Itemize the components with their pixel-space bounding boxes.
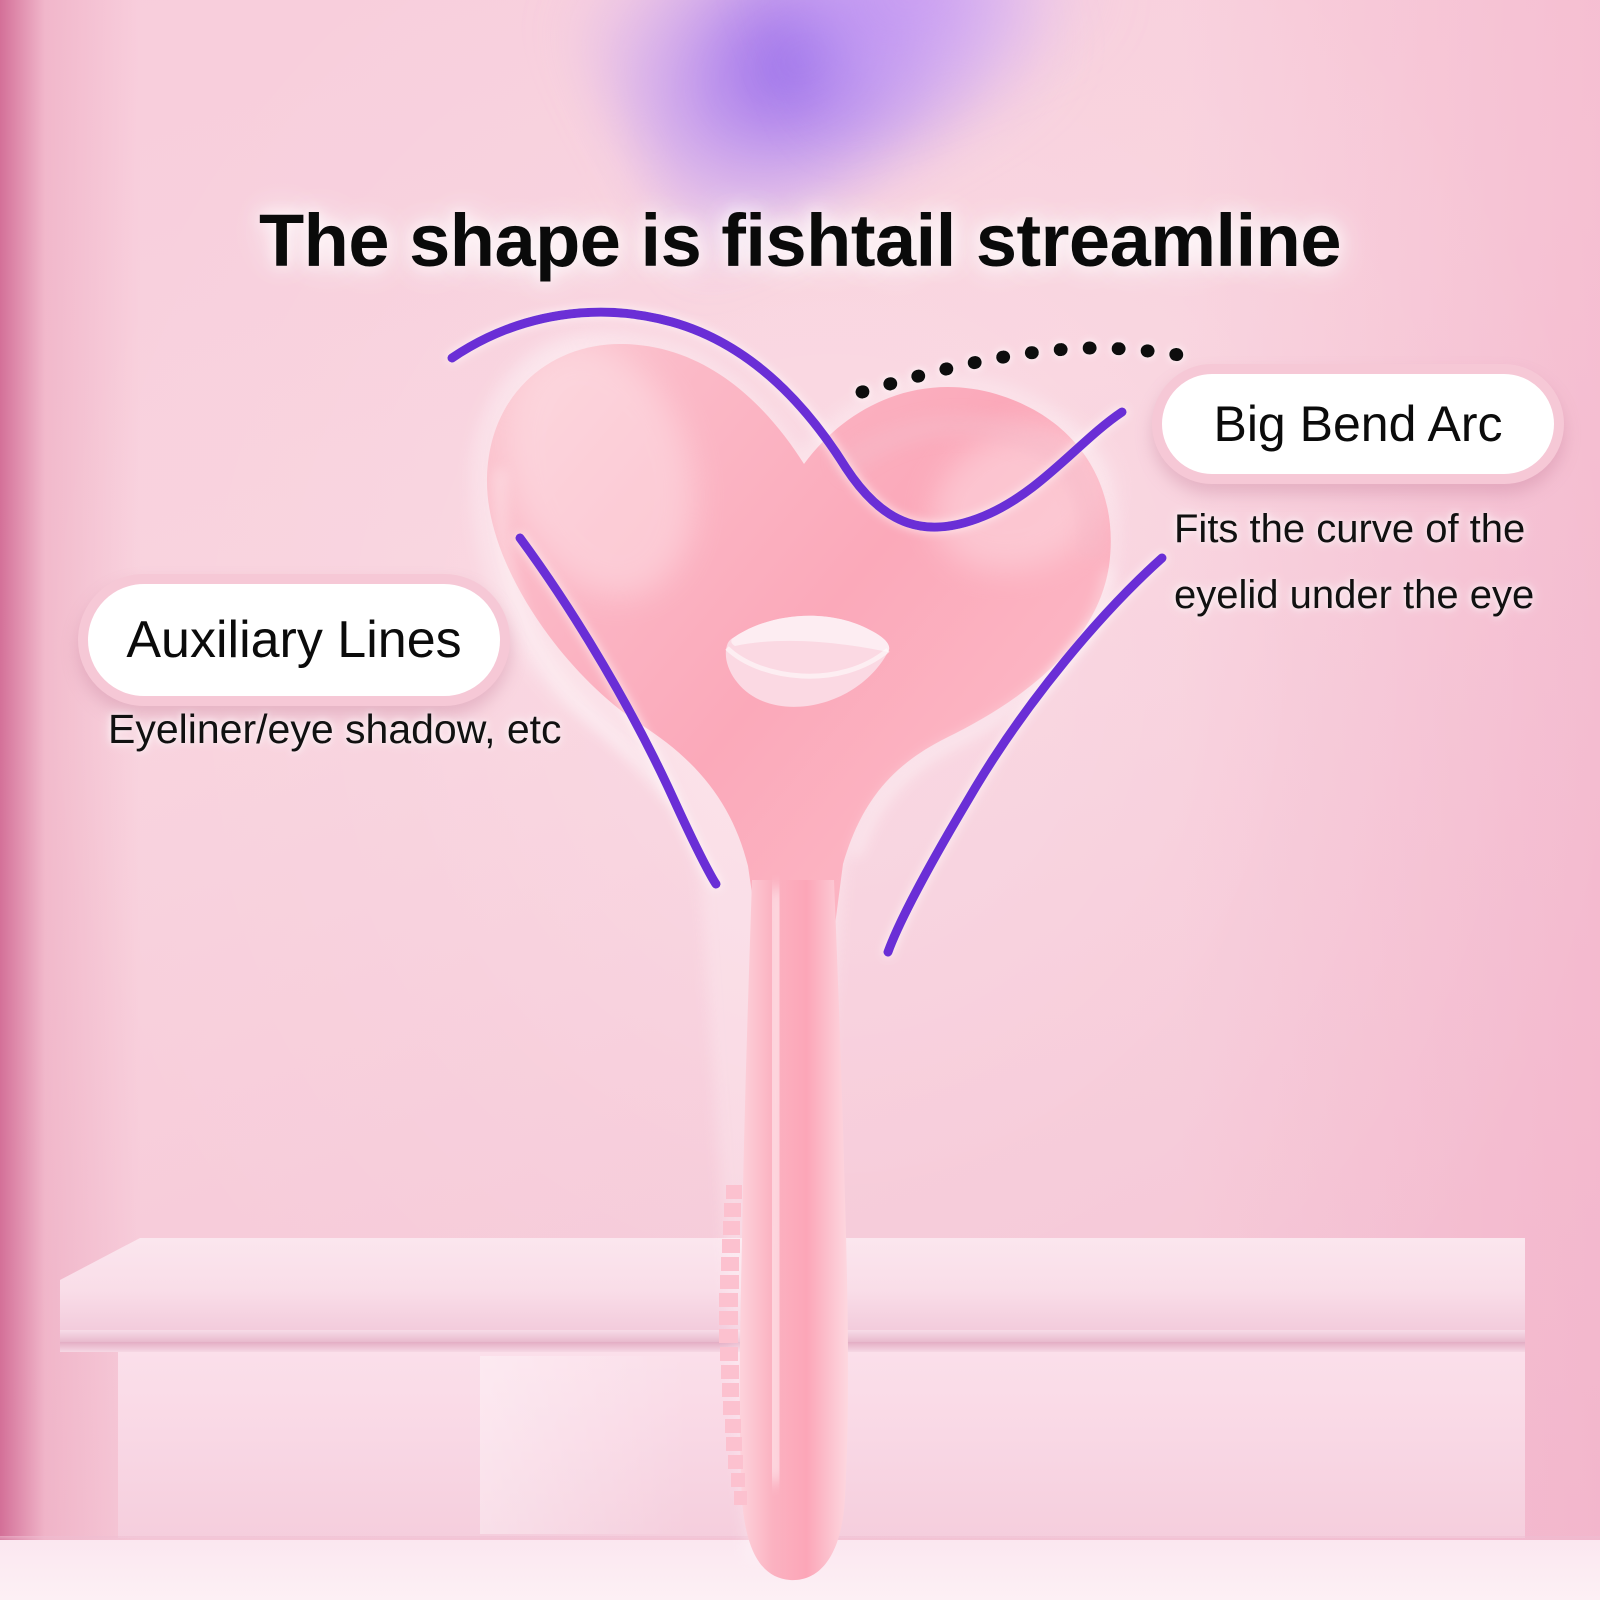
caption-line: eyelid under the eye <box>1174 562 1534 628</box>
label-pill-auxiliary-lines[interactable]: Auxiliary Lines <box>78 574 510 706</box>
caption-line: Eyeliner/eye shadow, etc <box>108 696 562 762</box>
purple-guide-curve-top <box>452 312 1122 527</box>
caption-line: Fits the curve of the <box>1174 496 1534 562</box>
product-infographic: The shape is fishtail streamline Big Ben… <box>0 0 1600 1600</box>
label-pill-big-bend-arc[interactable]: Big Bend Arc <box>1152 364 1564 484</box>
caption-auxiliary-lines: Eyeliner/eye shadow, etc <box>108 696 562 762</box>
caption-big-bend-arc: Fits the curve of the eyelid under the e… <box>1174 496 1534 628</box>
purple-guide-curve-right <box>888 558 1162 952</box>
page-title: The shape is fishtail streamline <box>0 198 1600 283</box>
dotted-leader-big-bend <box>862 348 1186 392</box>
